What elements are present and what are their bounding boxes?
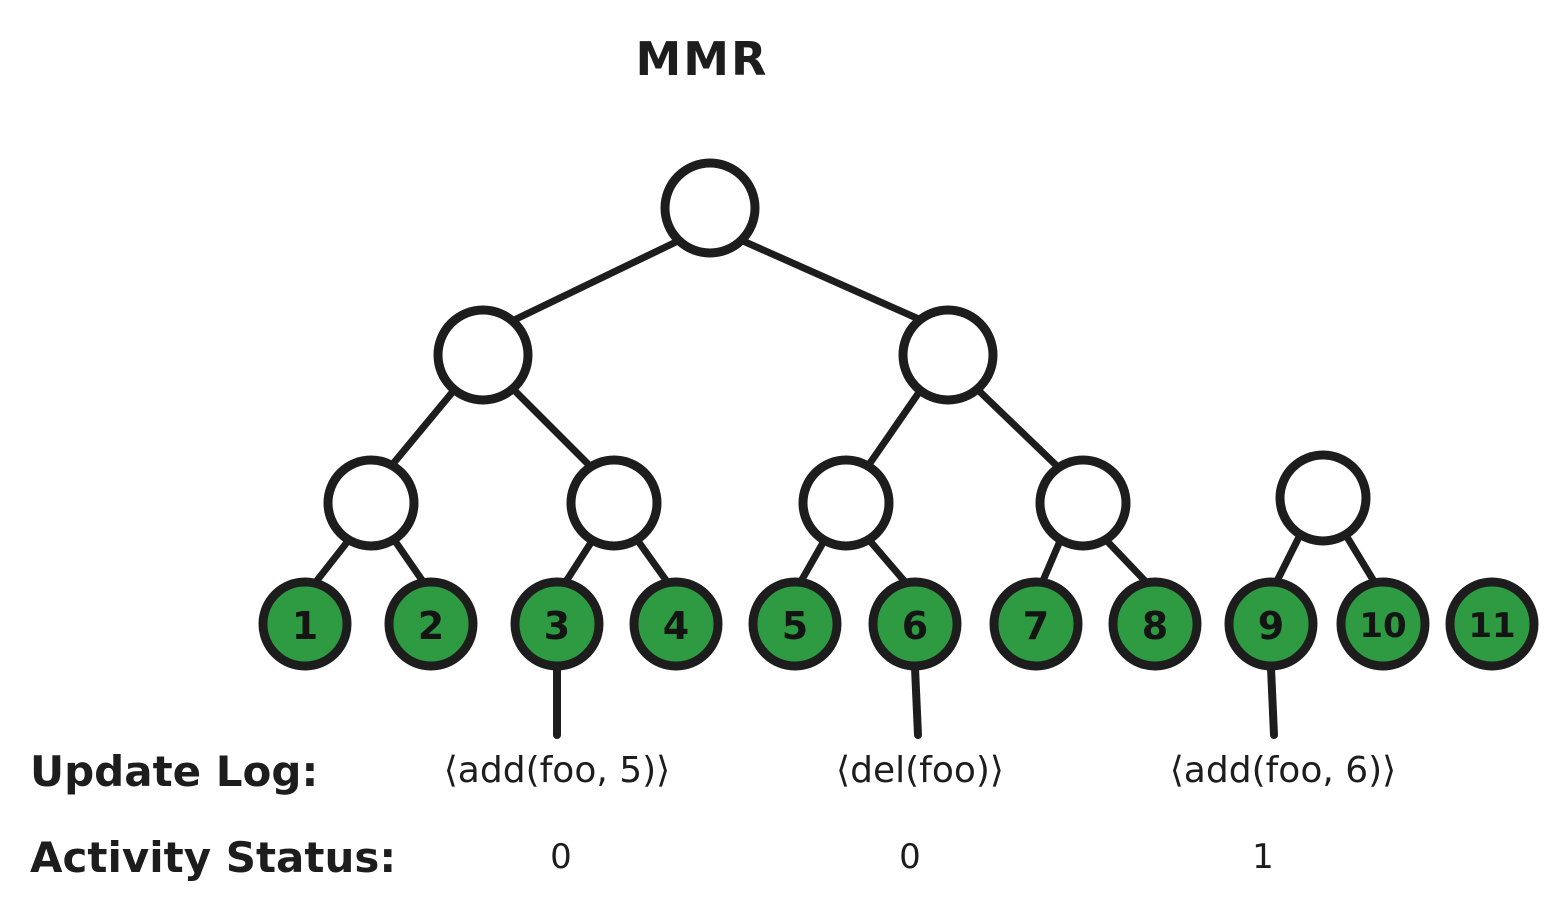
edge-l2left-l3b	[512, 388, 592, 468]
edge-l2right-l3c	[868, 388, 922, 466]
diagram-canvas: MMR	[0, 0, 1564, 920]
edge-l3b-leaf3	[565, 541, 592, 583]
edge-l2right-l3d	[976, 388, 1058, 467]
update-log-row-label: Update Log:	[30, 747, 318, 796]
leaf-node[interactable]: 11	[1450, 582, 1534, 666]
edge-l3d-leaf8	[1107, 541, 1147, 583]
edge-root-l2right	[743, 241, 921, 320]
leaf-node[interactable]: 4	[634, 582, 718, 666]
leaf-label-9: 9	[1258, 604, 1284, 648]
edge-l3b-leaf4	[638, 541, 668, 583]
edge-l2left-l3a	[392, 389, 455, 465]
activity-status-value-leaf6: 0	[899, 837, 921, 877]
leaf-label-5: 5	[782, 604, 808, 648]
mmr-diagram: MMR	[0, 0, 1564, 920]
node-l2-right[interactable]	[903, 310, 993, 400]
leaf-nodes: 1 2 3 4 5 6 7	[263, 582, 1534, 666]
edge-peak-leaf9	[1276, 537, 1299, 583]
update-log-value-leaf9: ⟨add(foo, 6)⟩	[1170, 750, 1396, 791]
edge-root-l2left	[510, 241, 678, 322]
annotation-values: ⟨add(foo, 5)⟩ 0 ⟨del(foo)⟩ 0 ⟨add(foo, 6…	[444, 750, 1396, 877]
activity-status-row-label: Activity Status:	[30, 833, 396, 882]
edge-l3d-leaf7	[1042, 541, 1060, 583]
node-l3-a[interactable]	[328, 460, 414, 546]
leaf-node[interactable]: 3	[515, 582, 599, 666]
node-l2-left[interactable]	[438, 310, 528, 400]
edge-l3c-leaf6	[870, 541, 906, 583]
leaf-node[interactable]: 10	[1341, 582, 1425, 666]
edge-l3c-leaf5	[800, 541, 824, 583]
stem-leaf9	[1271, 668, 1274, 735]
node-l3-c[interactable]	[803, 460, 889, 546]
node-l3-b[interactable]	[571, 460, 657, 546]
update-log-value-leaf3: ⟨add(foo, 5)⟩	[444, 750, 670, 791]
edge-l3a-leaf1	[315, 541, 348, 583]
leaf-node[interactable]: 2	[389, 582, 473, 666]
edge-peak-leaf10	[1347, 537, 1375, 583]
leaf-label-8: 8	[1142, 604, 1168, 648]
annotation-stems	[557, 668, 1274, 735]
edge-l3a-leaf2	[395, 541, 424, 583]
node-peak-9-10[interactable]	[1280, 455, 1366, 541]
leaf-node[interactable]: 1	[263, 582, 347, 666]
leaf-label-11: 11	[1468, 606, 1515, 646]
activity-status-value-leaf3: 0	[550, 837, 572, 877]
leaf-label-4: 4	[663, 604, 689, 648]
update-log-value-leaf6: ⟨del(foo)⟩	[836, 750, 1004, 791]
node-l3-d[interactable]	[1040, 460, 1126, 546]
stem-leaf6	[915, 668, 918, 735]
internal-nodes	[328, 163, 1366, 546]
diagram-title: MMR	[636, 32, 769, 86]
node-root[interactable]	[665, 163, 755, 253]
leaf-label-6: 6	[902, 604, 928, 648]
leaf-label-7: 7	[1023, 604, 1049, 648]
leaf-label-1: 1	[292, 604, 318, 648]
leaf-node[interactable]: 7	[994, 582, 1078, 666]
leaf-node[interactable]: 9	[1229, 582, 1313, 666]
activity-status-value-leaf9: 1	[1252, 837, 1274, 877]
leaf-label-3: 3	[544, 604, 570, 648]
leaf-node[interactable]: 5	[753, 582, 837, 666]
leaf-label-10: 10	[1359, 606, 1406, 646]
leaf-node[interactable]: 6	[873, 582, 957, 666]
leaf-label-2: 2	[418, 604, 444, 648]
leaf-node[interactable]: 8	[1113, 582, 1197, 666]
